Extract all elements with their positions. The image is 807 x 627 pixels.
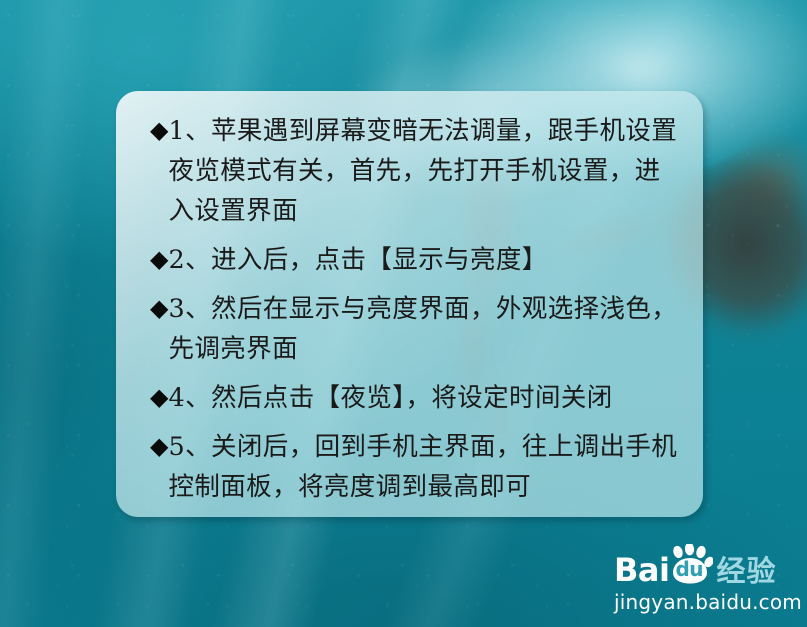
list-item: ◆ 3、然后在显示与亮度界面，外观选择浅色，先调亮界面 (150, 289, 685, 369)
instruction-step-2: 2、进入后，点击【显示与亮度】 (168, 240, 685, 280)
paw-print-icon: du (667, 546, 713, 586)
list-item: ◆ 5、关闭后，回到手机主界面，往上调出手机控制面板，将亮度调到最高即可 (150, 427, 685, 507)
baidu-jingyan-watermark: Bai du 经验 jingyan.baidu.com (614, 546, 800, 618)
instruction-step-3: 3、然后在显示与亮度界面，外观选择浅色，先调亮界面 (168, 289, 685, 369)
list-item: ◆ 2、进入后，点击【显示与亮度】 (150, 240, 685, 280)
watermark-logo-row: Bai du 经验 (614, 546, 800, 586)
instruction-card: ◆ 1、苹果遇到屏幕变暗无法调量，跟手机设置夜览模式有关，首先，先打开手机设置，… (116, 91, 703, 517)
slide-canvas: ◆ 1、苹果遇到屏幕变暗无法调量，跟手机设置夜览模式有关，首先，先打开手机设置，… (0, 0, 807, 627)
jingyan-wordmark: 经验 (716, 556, 776, 586)
diamond-bullet-icon: ◆ (150, 239, 168, 279)
instruction-list: ◆ 1、苹果遇到屏幕变暗无法调量，跟手机设置夜览模式有关，首先，先打开手机设置，… (116, 91, 703, 507)
baidu-wordmark: Bai (614, 554, 669, 586)
instruction-step-4: 4、然后点击【夜览】，将设定时间关闭 (168, 378, 685, 418)
list-item: ◆ 4、然后点击【夜览】，将设定时间关闭 (150, 378, 685, 418)
diamond-bullet-icon: ◆ (150, 110, 168, 150)
baidu-du-text: du (675, 559, 703, 579)
diamond-bullet-icon: ◆ (150, 288, 168, 328)
diamond-bullet-icon: ◆ (150, 377, 168, 417)
watermark-url: jingyan.baidu.com (614, 590, 800, 614)
diamond-bullet-icon: ◆ (150, 426, 168, 466)
instruction-step-1: 1、苹果遇到屏幕变暗无法调量，跟手机设置夜览模式有关，首先，先打开手机设置，进入… (168, 111, 685, 231)
instruction-step-5: 5、关闭后，回到手机主界面，往上调出手机控制面板，将亮度调到最高即可 (168, 427, 685, 507)
list-item: ◆ 1、苹果遇到屏幕变暗无法调量，跟手机设置夜览模式有关，首先，先打开手机设置，… (150, 111, 685, 231)
